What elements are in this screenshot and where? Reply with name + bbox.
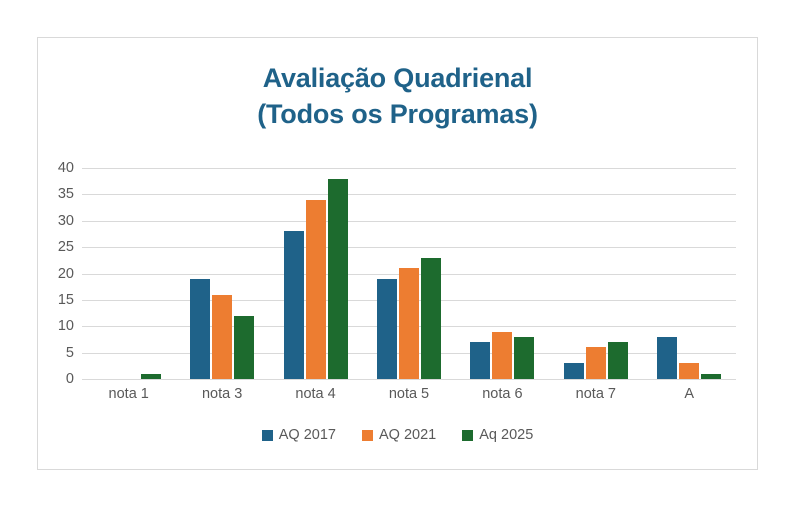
chart-container: Avaliação Quadrienal (Todos os Programas… [37,37,758,470]
bar[interactable] [212,295,232,379]
bar[interactable] [679,363,699,379]
bar[interactable] [492,332,512,379]
legend-label: Aq 2025 [479,427,533,443]
y-axis-tick-label: 25 [58,239,74,255]
bar-group [362,168,455,379]
legend-label: AQ 2021 [379,427,436,443]
y-axis-tick-label: 15 [58,292,74,308]
x-axis-labels: nota 1nota 3nota 4nota 5nota 6nota 7A [82,386,736,402]
legend-item[interactable]: Aq 2025 [462,427,533,443]
bar-group [82,168,175,379]
legend-label: AQ 2017 [279,427,336,443]
bar[interactable] [234,316,254,379]
y-axis-tick-label: 0 [66,371,74,387]
x-axis-tick-label: nota 7 [549,386,642,402]
legend-swatch-icon [262,430,273,441]
bar[interactable] [586,347,606,379]
x-axis-tick-label: nota 5 [362,386,455,402]
chart-title: Avaliação Quadrienal (Todos os Programas… [38,60,757,132]
x-axis-tick-label: A [643,386,736,402]
y-axis-tick-label: 30 [58,213,74,229]
plot-area: 4035302520151050 [82,168,736,379]
bar-group [549,168,642,379]
bar-group [643,168,736,379]
x-axis-tick-label: nota 6 [456,386,549,402]
legend-swatch-icon [362,430,373,441]
bar[interactable] [306,200,326,379]
bar[interactable] [608,342,628,379]
bar[interactable] [564,363,584,379]
y-axis-tick-label: 40 [58,160,74,176]
y-axis-tick-label: 10 [58,318,74,334]
y-axis-tick-label: 20 [58,266,74,282]
y-axis-tick-label: 35 [58,186,74,202]
chart-title-line-2: (Todos os Programas) [38,96,757,132]
bar-group [175,168,268,379]
bar[interactable] [470,342,490,379]
bar[interactable] [284,231,304,379]
x-axis-tick-label: nota 4 [269,386,362,402]
legend-item[interactable]: AQ 2017 [262,427,336,443]
legend-item[interactable]: AQ 2021 [362,427,436,443]
x-axis-tick-label: nota 3 [175,386,268,402]
bar-group [269,168,362,379]
bar[interactable] [328,179,348,379]
y-axis-tick-label: 5 [66,345,74,361]
x-axis-line [82,379,736,380]
bar[interactable] [190,279,210,379]
bar-group [456,168,549,379]
bar[interactable] [399,268,419,379]
chart-title-line-1: Avaliação Quadrienal [38,60,757,96]
bar[interactable] [377,279,397,379]
bar[interactable] [514,337,534,379]
bars-layer [82,168,736,379]
legend-swatch-icon [462,430,473,441]
bar[interactable] [657,337,677,379]
bar[interactable] [421,258,441,379]
x-axis-tick-label: nota 1 [82,386,175,402]
chart-legend: AQ 2017AQ 2021Aq 2025 [38,427,757,443]
